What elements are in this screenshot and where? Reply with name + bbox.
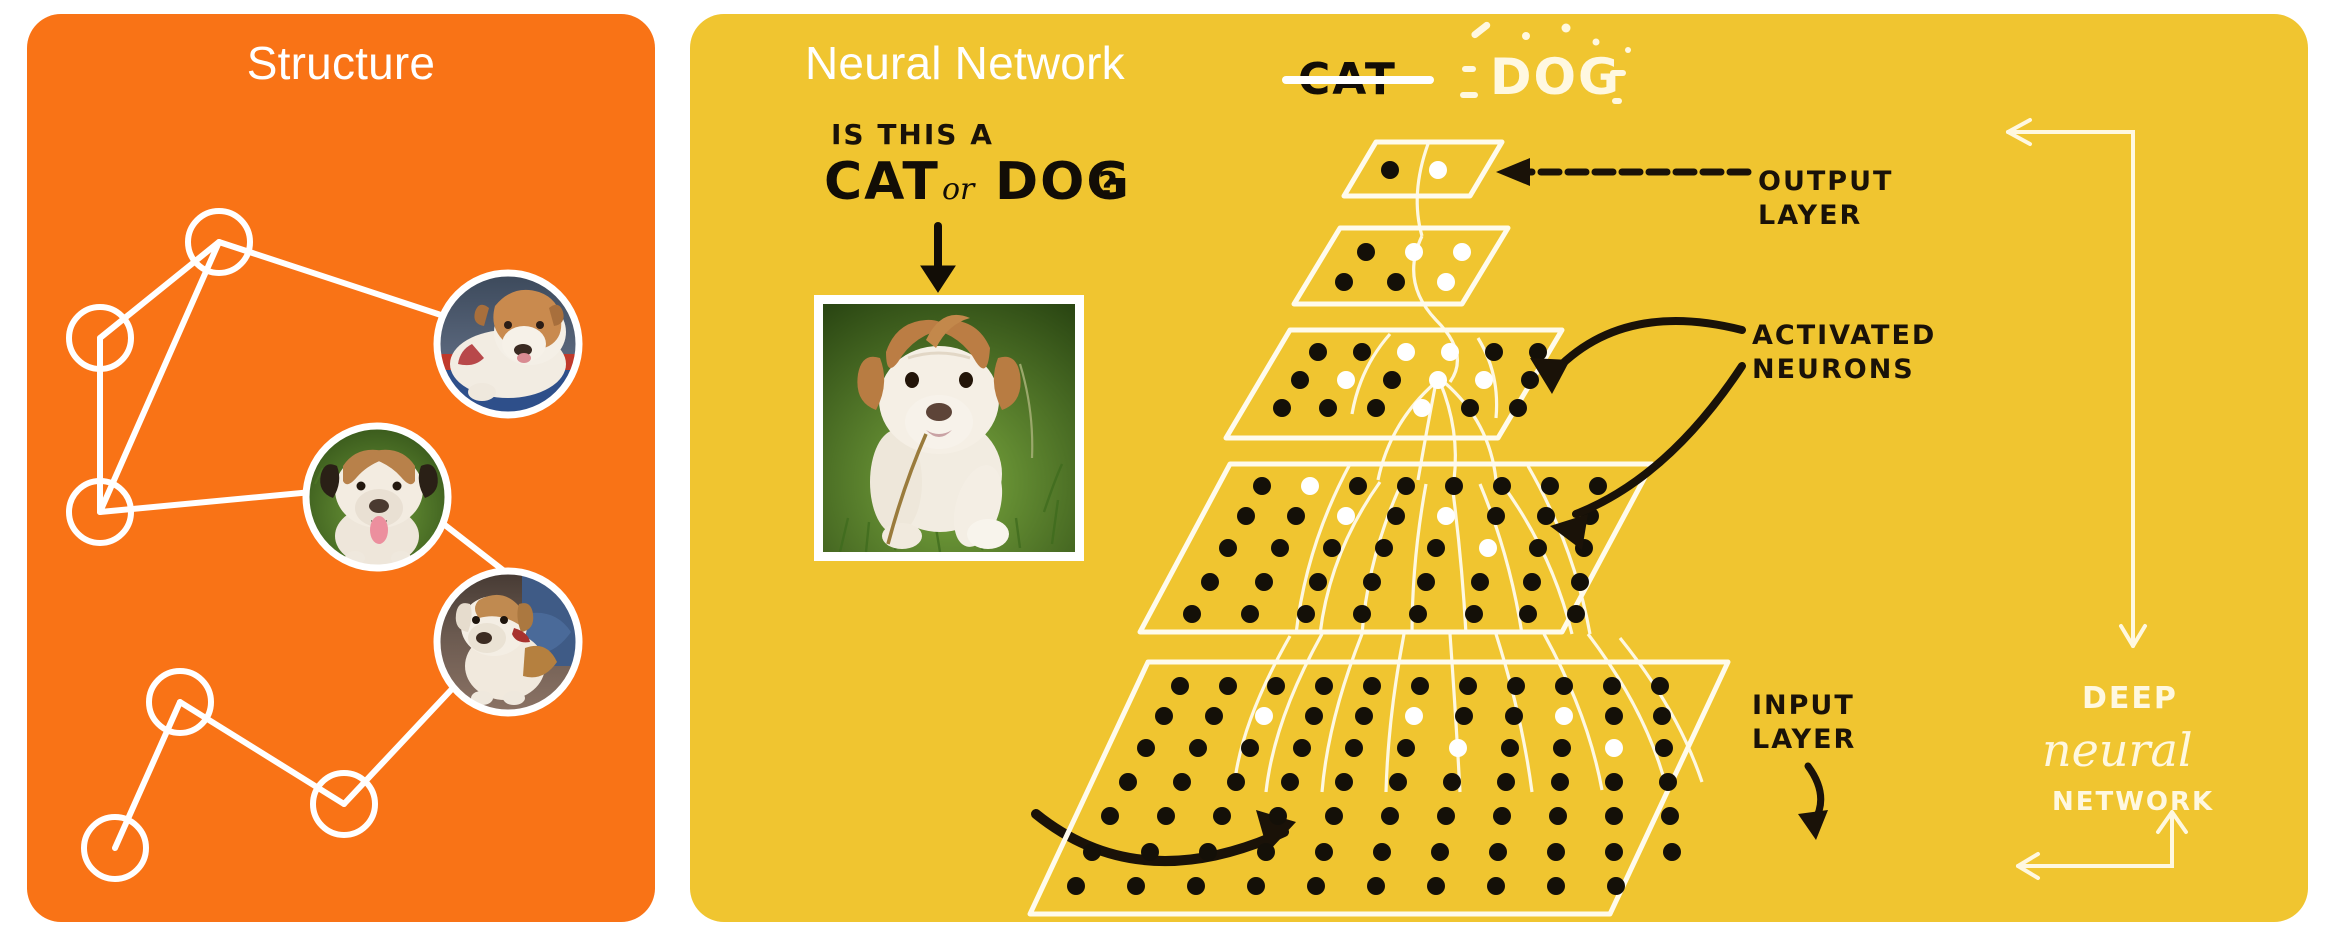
badge-line1: DEEP bbox=[2082, 681, 2178, 716]
deep-network-bracket-bottom bbox=[2018, 812, 2186, 878]
input-layer-annotation: INPUT LAYER bbox=[1752, 690, 1856, 840]
output-layer-label-line2: LAYER bbox=[1758, 200, 1862, 231]
layer-output[interactable] bbox=[1344, 142, 1502, 196]
question-mark: ? bbox=[1098, 165, 1120, 205]
infographic-canvas: Structure bbox=[0, 0, 2330, 936]
network-stack bbox=[1030, 142, 1728, 914]
graph-photo-node-bulldog-grass[interactable] bbox=[306, 426, 448, 568]
question-line1: IS THIS A bbox=[831, 118, 994, 151]
activated-neurons-label-line1: ACTIVATED bbox=[1752, 320, 1936, 351]
input-photo[interactable] bbox=[814, 295, 1084, 561]
graph-photo-node-bulldog-sitting[interactable] bbox=[437, 571, 579, 713]
badge-line2: neural bbox=[2042, 723, 2193, 777]
question-cat: CAT bbox=[824, 152, 940, 212]
output-layer-annotation: OUTPUT LAYER bbox=[1496, 158, 1893, 231]
structure-panel: Structure bbox=[27, 14, 655, 922]
activated-neurons-label-line2: NEURONS bbox=[1752, 354, 1915, 385]
question-or: or bbox=[942, 172, 976, 207]
neural-network-panel: Neural Network IS THIS A CAT or DOG ? bbox=[690, 14, 2308, 922]
layer-hidden-1[interactable] bbox=[1140, 464, 1652, 632]
output-layer-label-line1: OUTPUT bbox=[1758, 166, 1893, 197]
deep-network-bracket bbox=[2008, 120, 2145, 646]
layer-hidden-3[interactable] bbox=[1294, 228, 1508, 304]
structure-graph bbox=[27, 14, 655, 922]
down-arrow-icon bbox=[921, 226, 955, 292]
input-layer-label-line2: LAYER bbox=[1752, 724, 1856, 755]
layer-input[interactable] bbox=[1030, 662, 1728, 914]
question-block: IS THIS A CAT or DOG ? bbox=[824, 118, 1131, 212]
input-layer-label-line1: INPUT bbox=[1752, 690, 1855, 721]
deep-neural-network-badge: DEEP neural NETWORK bbox=[2042, 681, 2214, 817]
neural-network-diagram: IS THIS A CAT or DOG ? bbox=[690, 14, 2308, 922]
graph-photo-node-bulldog-on-mat[interactable] bbox=[437, 273, 579, 415]
verdict-dog: DOG bbox=[1490, 48, 1621, 106]
verdict-block: CAT DOG bbox=[1286, 20, 1631, 106]
layer-hidden-2[interactable] bbox=[1226, 330, 1562, 438]
badge-line3: NETWORK bbox=[2052, 787, 2214, 817]
